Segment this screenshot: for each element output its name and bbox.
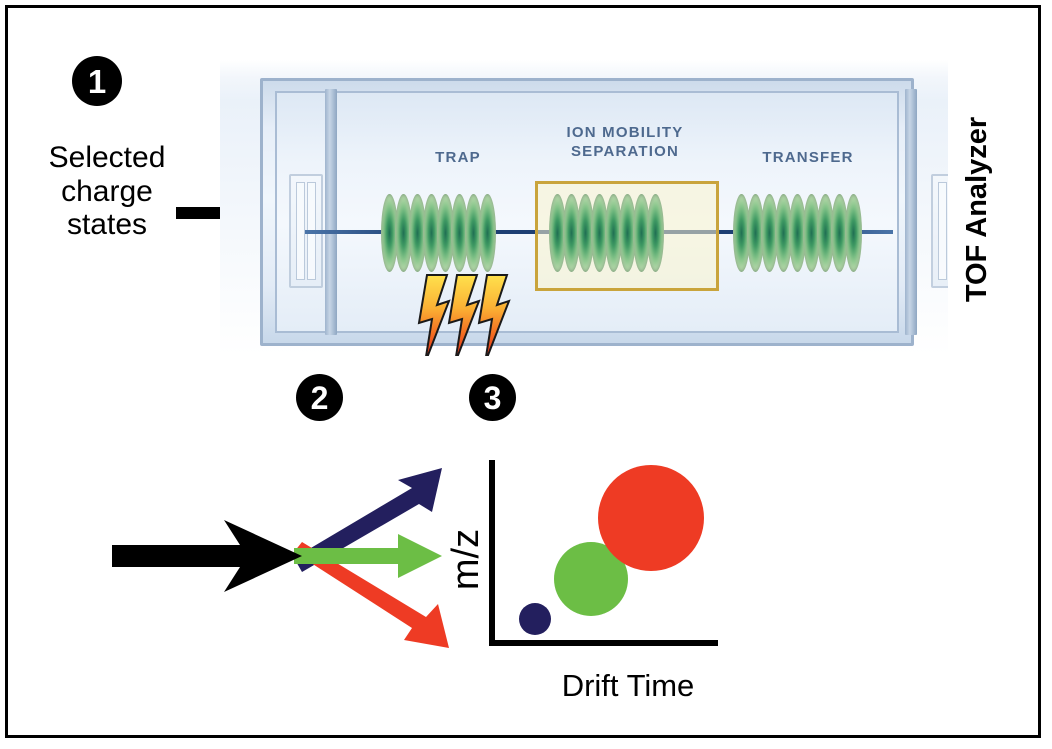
step-badge-3: 3 xyxy=(469,374,516,421)
chamber-pillar-left xyxy=(325,89,337,335)
outlet-lens-stack xyxy=(931,174,948,288)
instrument-schematic: TRAP ION MOBILITY SEPARATION xyxy=(220,60,948,356)
lightning-bolts-icon xyxy=(413,271,533,356)
step-badge-1: 1 xyxy=(72,56,122,106)
step1-caption-line3: states xyxy=(16,208,198,242)
tof-analyzer-label: TOF Analyzer xyxy=(956,64,1000,354)
ring-electrode xyxy=(479,194,496,272)
chamber-pillar-right xyxy=(905,89,917,335)
tof-analyzer-label-text: TOF Analyzer xyxy=(962,116,995,301)
section-label-line1: ION MOBILITY xyxy=(535,124,715,143)
figure-frame: 1 Selected charge states TRAP xyxy=(5,5,1041,738)
transfer-electrode-stack xyxy=(733,193,859,273)
ion-mobility-electrode-stack xyxy=(549,193,661,273)
incoming-ion-arrow xyxy=(112,520,302,592)
trap-electrode-stack xyxy=(381,193,493,273)
section-label-line2: SEPARATION xyxy=(535,143,715,162)
navy-bubble xyxy=(519,603,551,635)
section-label-transfer: TRANSFER xyxy=(733,149,883,166)
red-bubble xyxy=(598,465,704,571)
section-label-trap: TRAP xyxy=(403,149,513,166)
section-label-ion-mobility-separation: ION MOBILITY SEPARATION xyxy=(535,124,715,162)
step1-caption-line1: Selected xyxy=(16,141,198,175)
ring-electrode xyxy=(647,194,664,272)
step1-caption-line2: charge xyxy=(16,175,198,209)
vacuum-chamber: TRAP ION MOBILITY SEPARATION xyxy=(260,78,914,346)
plot-x-axis-label: Drift Time xyxy=(478,668,778,704)
step-badge-2: 2 xyxy=(296,374,343,421)
chamber-bottom-notch xyxy=(611,349,675,356)
green-conformer-arrow xyxy=(294,534,442,578)
conformer-splitting-arrows xyxy=(112,460,462,655)
step1-caption: Selected charge states xyxy=(16,141,198,242)
ring-electrode xyxy=(845,194,862,272)
